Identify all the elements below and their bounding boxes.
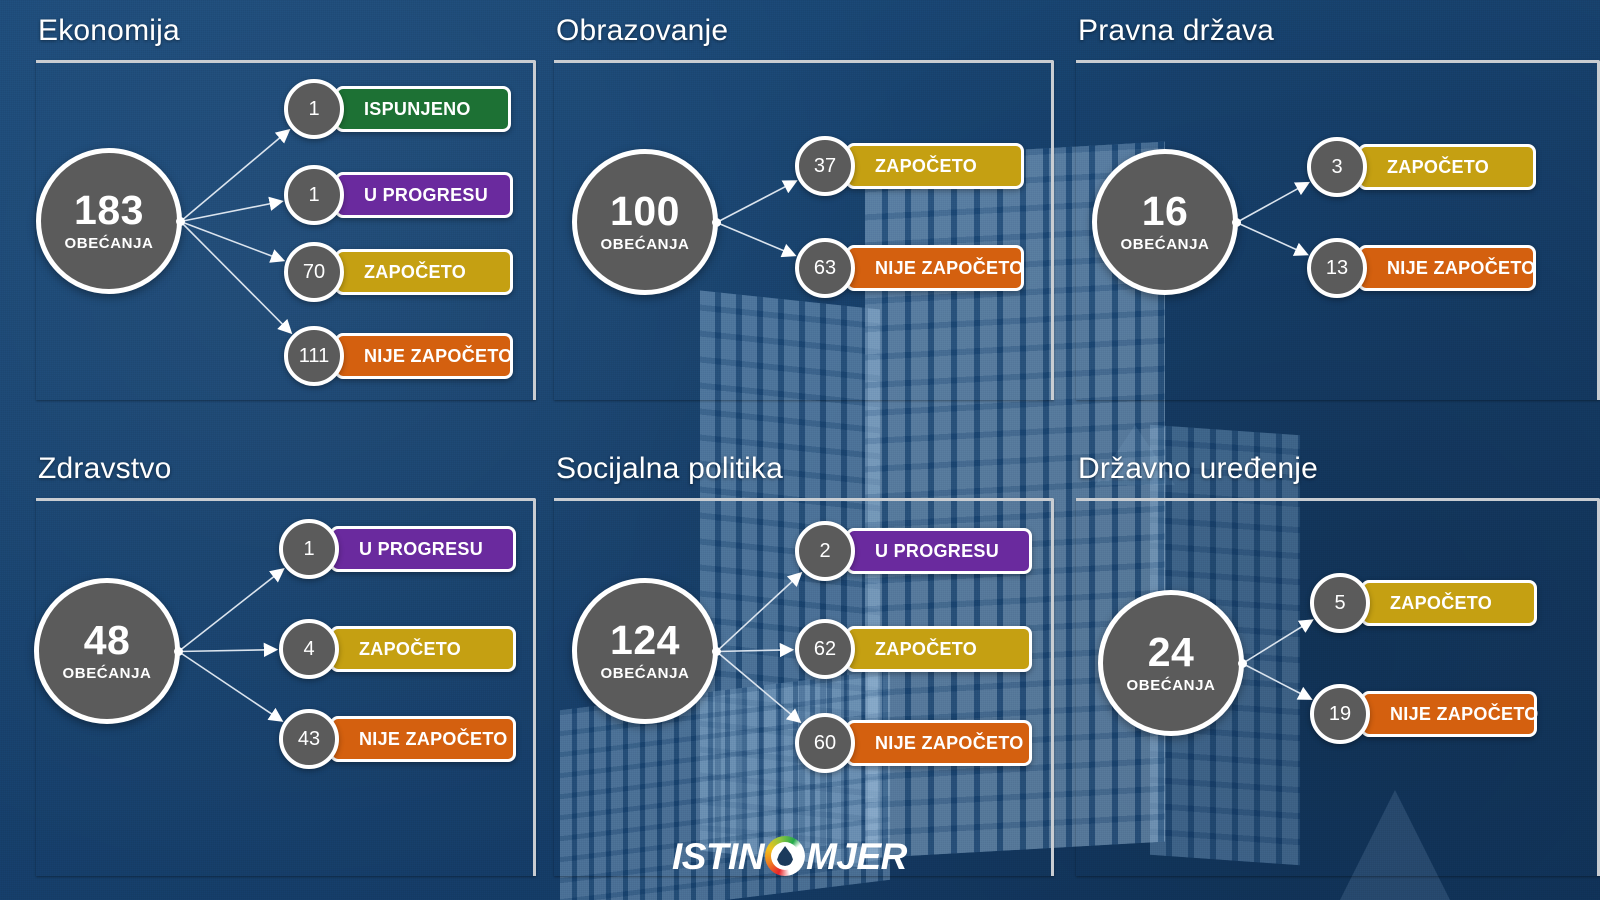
panel-title: Socijalna politika	[556, 452, 783, 486]
hub-circle-ekonomija[interactable]: 183 OBEĆANJA	[36, 148, 182, 294]
hub-circle-socijalna-politika[interactable]: 124 OBEĆANJA	[572, 578, 718, 724]
logo-text-left: ISTIN	[672, 838, 764, 875]
status-bar-u-progresu[interactable]: U PROGRESU	[330, 526, 516, 572]
hub-label: OBEĆANJA	[1127, 677, 1216, 694]
status-bar-nije-zapoceto[interactable]: NIJE ZAPOČETO	[846, 245, 1024, 291]
node-count-circle[interactable]: 60	[795, 713, 855, 773]
node-count-circle[interactable]: 3	[1307, 137, 1367, 197]
hub-circle-zdravstvo[interactable]: 48 OBEĆANJA	[34, 578, 180, 724]
hub-anchor-dot	[176, 217, 185, 226]
hub-anchor-dot	[174, 647, 183, 656]
status-bar-zapoceto[interactable]: ZAPOČETO	[330, 626, 516, 672]
status-bar-u-progresu[interactable]: U PROGRESU	[335, 172, 513, 218]
status-bar-nije-zapoceto[interactable]: NIJE ZAPOČETO	[335, 333, 513, 379]
status-bar-zapoceto[interactable]: ZAPOČETO	[846, 626, 1032, 672]
node-count-circle[interactable]: 62	[795, 619, 855, 679]
hub-total: 24	[1148, 632, 1195, 673]
node-count-circle[interactable]: 5	[1310, 573, 1370, 633]
panel-title: Zdravstvo	[38, 452, 172, 486]
hub-anchor-dot	[712, 647, 721, 656]
hub-total: 48	[84, 620, 131, 661]
node-count-circle[interactable]: 43	[279, 709, 339, 769]
status-bar-zapoceto[interactable]: ZAPOČETO	[846, 143, 1024, 189]
hub-label: OBEĆANJA	[601, 665, 690, 682]
hub-label: OBEĆANJA	[601, 236, 690, 253]
node-count-circle[interactable]: 111	[284, 326, 344, 386]
hub-total: 100	[610, 191, 680, 232]
hub-label: OBEĆANJA	[1121, 236, 1210, 253]
infographic-canvas: Ekonomija 183 OBEĆANJA 1 ISPUNJENO 1 U P…	[0, 0, 1600, 900]
status-bar-ispunjeno[interactable]: ISPUNJENO	[335, 86, 511, 132]
node-count-circle[interactable]: 13	[1307, 238, 1367, 298]
status-bar-zapoceto[interactable]: ZAPOČETO	[335, 249, 513, 295]
hub-total: 183	[74, 190, 144, 231]
status-bar-u-progresu[interactable]: U PROGRESU	[846, 528, 1032, 574]
status-bar-zapoceto[interactable]: ZAPOČETO	[1361, 580, 1537, 626]
hub-total: 16	[1142, 191, 1189, 232]
node-count-circle[interactable]: 19	[1310, 684, 1370, 744]
hub-label: OBEĆANJA	[63, 665, 152, 682]
node-count-circle[interactable]: 4	[279, 619, 339, 679]
hub-anchor-dot	[712, 218, 721, 227]
panel-title: Obrazovanje	[556, 14, 728, 48]
logo-text-right: MJER	[806, 838, 907, 875]
hub-circle-obrazovanje[interactable]: 100 OBEĆANJA	[572, 149, 718, 295]
droplet-gauge-icon	[765, 836, 805, 876]
node-count-circle[interactable]: 1	[284, 79, 344, 139]
status-bar-nije-zapoceto[interactable]: NIJE ZAPOČETO	[1358, 245, 1536, 291]
hub-anchor-dot	[1238, 659, 1247, 668]
panel-title: Ekonomija	[38, 14, 180, 48]
hub-anchor-dot	[1232, 218, 1241, 227]
node-count-circle[interactable]: 70	[284, 242, 344, 302]
node-count-circle[interactable]: 2	[795, 521, 855, 581]
status-bar-nije-zapoceto[interactable]: NIJE ZAPOČETO	[330, 716, 516, 762]
panel-title: Državno uređenje	[1078, 452, 1318, 486]
node-count-circle[interactable]: 1	[284, 165, 344, 225]
hub-total: 124	[610, 620, 680, 661]
istinomjer-logo[interactable]: ISTIN MJER	[672, 836, 907, 876]
status-bar-nije-zapoceto[interactable]: NIJE ZAPOČETO	[846, 720, 1032, 766]
status-bar-zapoceto[interactable]: ZAPOČETO	[1358, 144, 1536, 190]
node-count-circle[interactable]: 37	[795, 136, 855, 196]
hub-circle-drzavno-uredenje[interactable]: 24 OBEĆANJA	[1098, 590, 1244, 736]
node-count-circle[interactable]: 1	[279, 519, 339, 579]
hub-label: OBEĆANJA	[65, 235, 154, 252]
node-count-circle[interactable]: 63	[795, 238, 855, 298]
status-bar-nije-zapoceto[interactable]: NIJE ZAPOČETO	[1361, 691, 1537, 737]
panel-title: Pravna država	[1078, 14, 1274, 48]
hub-circle-pravna-drzava[interactable]: 16 OBEĆANJA	[1092, 149, 1238, 295]
